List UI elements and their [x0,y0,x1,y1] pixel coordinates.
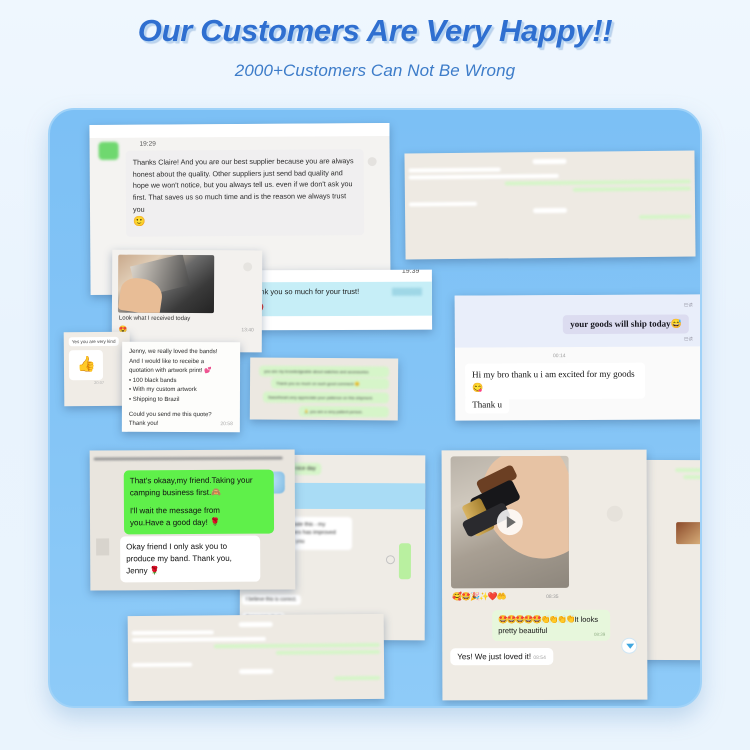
celebration-emojis: 🤩🤩🤩🤩🤩👏👏👏👏 [498,615,574,624]
quote-line-1: Jenny, we really loved the bands! [129,348,233,358]
page-subtitle: 2000+Customers Can Not Be Wrong [0,61,750,81]
top-blurred-line [94,453,291,462]
loved-it-text: Yes! We just loved it! [457,652,531,661]
quote-line-5: Thank you! [129,420,233,430]
thumbs-up-icon: 👍 [77,355,96,373]
correct-bubble: I believe this is correct. [242,595,301,605]
trust-timestamp: 19:39 [402,270,420,275]
blurred-chat-content [408,155,691,256]
smiley-emoji: 🙂 [133,213,357,231]
goods-shipping-screenshot: 已读 your goods will ship today😅 已读 00:14 … [455,294,702,420]
quote-line-2: And I would like to receibe a [129,357,233,367]
loved-it-bubble: Yes! We just loved it! 08:54 [450,648,553,665]
blurred-chat-content-2 [132,618,381,697]
produce-line-1: Okay friend I only ask you to [126,541,254,554]
watch-video-thumbnail [451,456,569,588]
scroll-down-icon[interactable] [621,638,637,654]
okaay-line-2: camping business first.🙈 [130,487,268,500]
produce-line-2: produce my band. Thank you, [126,553,254,566]
read-receipt-top: 已读 [684,302,693,308]
chat-screenshot-blurred-top-right [404,150,695,259]
testimonial-banner: Our Customers Are Very Happy!! 2000+Cust… [0,0,750,750]
kindness-caption: Yes you are very kind [69,337,119,346]
sender-avatar [96,538,109,555]
produce-line-3: Jenny 🌹 [126,565,254,578]
page-title: Our Customers Are Very Happy!! [0,13,750,49]
main-testimonial-text: Thanks Claire! And you are our best supp… [126,149,365,237]
appreciation-screenshot: you are my knowledgeable about watches a… [250,357,398,420]
redacted-block [392,288,422,296]
photo-thumbnail [676,522,702,544]
main-testimonial-body: Thanks Claire! And you are our best supp… [133,156,354,213]
appreciation-line-1: you are my knowledgeable about watches a… [259,366,389,378]
okaay-line-1: That's okaay,my friend.Taking your [130,475,268,488]
customer-thanks-bubble: Thank u [465,395,509,413]
okaay-green-bubble: That's okaay,my friend.Taking your campi… [124,470,274,535]
quote-bullet-2: • With my custom artwork [129,386,233,396]
quotation-text: Jenny, we really loved the bands! And I … [122,342,240,432]
quotation-request-screenshot: Jenny, we really loved the bands! And I … [122,342,240,432]
quote-bullet-3: • Shipping to Brazil [129,396,233,406]
screenshot-collage-panel: 19:29 Thanks Claire! And you are our bes… [48,108,702,708]
chat-header-bar [89,123,389,138]
reaction-emojis: 🥰🤩🎉✨❤️🤲 [452,592,506,601]
play-button-icon[interactable] [497,509,523,535]
video-timestamp: 08:35 [546,594,559,600]
chat-screenshot-blurred-bottom-left [128,614,385,701]
quotation-timestamp: 20:58 [220,421,233,427]
appreciation-line-4: 🙏 you are a very patient person. [299,406,389,418]
photo-caption: Look what I received today [119,316,190,322]
quote-line-4: Could you send me this quote? [129,410,233,420]
time-divider: 00:14 [553,353,566,359]
received-product-photo [118,255,214,314]
appreciation-line-2: Thank you so much on such good comment 😊 [271,378,389,390]
voice-note-bar [399,543,411,579]
photo-received-screenshot: Look what I received today 😍 13:40 [112,250,263,353]
voice-play-icon [386,555,395,564]
trust-message-text: thank you so much for your trust! [250,287,359,296]
loved-it-timestamp: 08:54 [533,655,546,661]
banner-header: Our Customers Are Very Happy!! 2000+Cust… [0,0,750,81]
camping-business-screenshot: That's okaay,my friend.Taking your campi… [90,449,296,590]
quote-bullet-1: • 100 black bands [129,377,233,387]
produce-band-bubble: Okay friend I only ask you to produce my… [120,536,260,583]
contact-avatar-icon [99,142,119,160]
watch-video-screenshot: 🥰🤩🎉✨❤️🤲 08:35 🤩🤩🤩🤩🤩👏👏👏👏It looks pretty b… [442,450,648,701]
message-status-icon [368,157,377,166]
quote-line-3: quotation with artwork print! 💕 [129,367,233,377]
ship-today-bubble: your goods will ship today😅 [563,314,689,334]
appreciation-line-3: Sweetheart,very appreciate your patience… [263,392,389,404]
thumbs-up-bubble: 👍 [69,350,103,380]
read-receipt-bottom: 已读 [684,336,693,342]
thumbs-up-screenshot: Yes you are very kind 👍 20:07 [64,332,131,407]
forward-icon[interactable] [607,506,623,522]
customer-reply-bubble: Hi my bro thank u i am excited for my go… [465,363,645,400]
appreciation-blurred-lines: you are my knowledgeable about watches a… [254,362,394,417]
message-timestamp: 19:29 [140,141,156,148]
thumbs-up-timestamp: 20:07 [94,380,104,385]
message-status-icon [243,262,252,271]
photo-timestamp: 13:40 [241,327,254,333]
pretty-beautiful-bubble: 🤩🤩🤩🤩🤩👏👏👏👏It looks pretty beautiful 08:39 [492,610,610,641]
okaay-line-3: I'll wait the message from [130,505,268,518]
reply-timestamp: 08:39 [594,632,605,639]
okaay-line-4: you.Have a good day! 🌹 [130,517,268,530]
